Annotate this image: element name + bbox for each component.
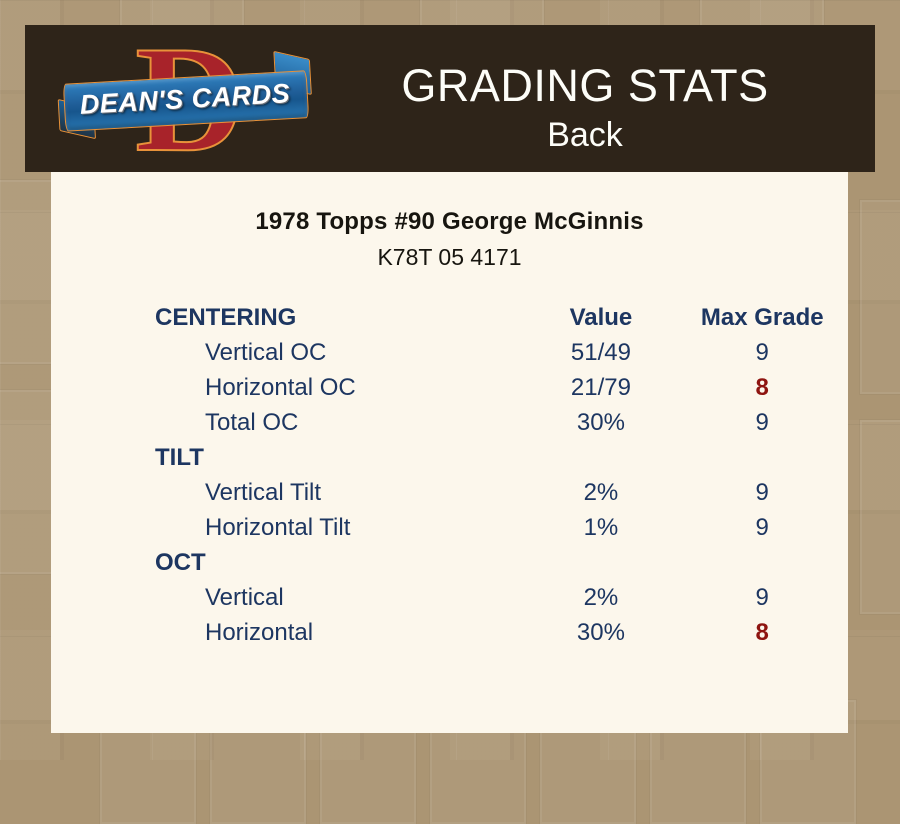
stat-row: Horizontal Tilt1%9: [51, 510, 848, 545]
page-subtitle: Back: [315, 115, 855, 155]
column-header-max-grade: Max Grade: [676, 300, 848, 335]
section-header-row: TILT: [51, 440, 848, 475]
stat-label: Vertical OC: [51, 335, 525, 370]
section-title: TILT: [51, 440, 525, 475]
content-panel: 1978 Topps #90 George McGinnis K78T 05 4…: [51, 172, 848, 733]
stat-row: Horizontal OC21/798: [51, 370, 848, 405]
section-value-spacer: [525, 545, 676, 580]
stat-max-grade: 9: [676, 580, 848, 615]
section-title: CENTERING: [51, 300, 525, 335]
section-header-row: CENTERINGValueMax Grade: [51, 300, 848, 335]
stat-row: Total OC30%9: [51, 405, 848, 440]
stat-max-grade: 9: [676, 335, 848, 370]
card-title: 1978 Topps #90 George McGinnis: [51, 208, 848, 236]
stat-value: 30%: [525, 615, 676, 650]
deans-cards-logo[interactable]: D DEAN'S CARDS: [60, 29, 310, 169]
stat-max-grade: 8: [676, 370, 848, 405]
stat-max-grade: 9: [676, 510, 848, 545]
stat-value: 2%: [525, 475, 676, 510]
stat-value: 2%: [525, 580, 676, 615]
backdrop-card: [860, 420, 900, 614]
stat-max-grade: 9: [676, 405, 848, 440]
section-title: OCT: [51, 545, 525, 580]
grading-stats-table: CENTERINGValueMax GradeVertical OC51/499…: [51, 300, 848, 650]
stat-value: 30%: [525, 405, 676, 440]
stat-label: Vertical Tilt: [51, 475, 525, 510]
column-header-value: Value: [525, 300, 676, 335]
section-grade-spacer: [676, 545, 848, 580]
stat-row: Vertical Tilt2%9: [51, 475, 848, 510]
stat-row: Horizontal30%8: [51, 615, 848, 650]
stat-value: 1%: [525, 510, 676, 545]
backdrop-card: [860, 200, 900, 394]
stat-value: 21/79: [525, 370, 676, 405]
section-value-spacer: [525, 440, 676, 475]
stat-label: Horizontal OC: [51, 370, 525, 405]
page-title: GRADING STATS: [315, 61, 855, 111]
logo-ribbon-banner: DEAN'S CARDS: [59, 68, 312, 134]
stat-row: Vertical2%9: [51, 580, 848, 615]
section-grade-spacer: [676, 440, 848, 475]
header-bar: D DEAN'S CARDS GRADING STATS Back: [25, 25, 875, 172]
stat-row: Vertical OC51/499: [51, 335, 848, 370]
stat-label: Total OC: [51, 405, 525, 440]
stat-max-grade: 8: [676, 615, 848, 650]
card-serial-number: K78T 05 4171: [51, 244, 848, 271]
stat-value: 51/49: [525, 335, 676, 370]
section-header-row: OCT: [51, 545, 848, 580]
stat-label: Horizontal: [51, 615, 525, 650]
stat-max-grade: 9: [676, 475, 848, 510]
stat-label: Horizontal Tilt: [51, 510, 525, 545]
stat-label: Vertical: [51, 580, 525, 615]
